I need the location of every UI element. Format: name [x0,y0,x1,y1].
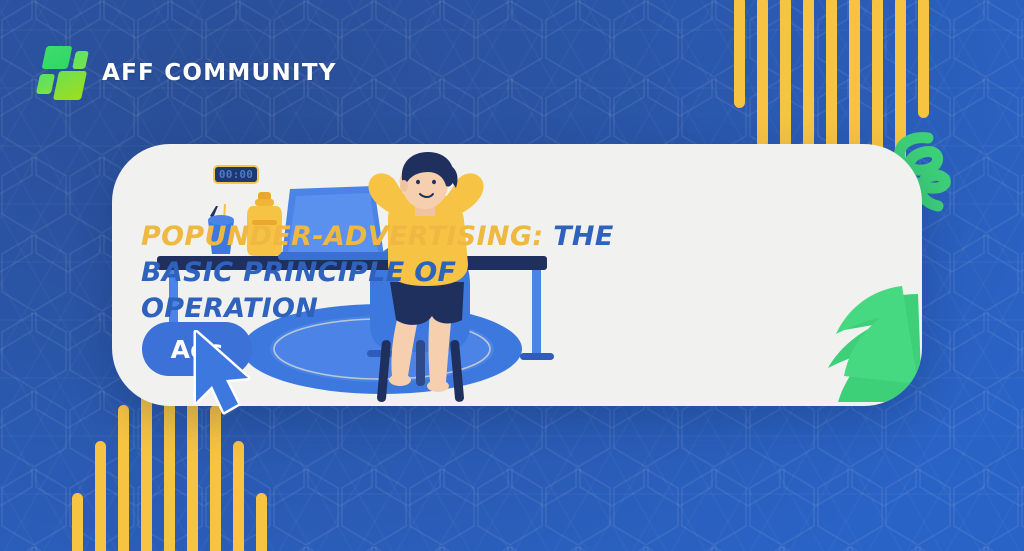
decorative-bar [734,0,745,108]
aff-community-logo-icon [36,46,88,100]
brand-logo[interactable]: AFF COMMUNITY [36,46,337,100]
headline-main-1: THE [553,221,613,252]
headline-main-2: BASIC PRINCIPLE OF OPERATION [141,257,456,324]
decorative-bar [918,0,929,118]
decorative-bar [233,441,244,551]
green-leaf-frond-icon [828,286,922,402]
headline-accent: POPUNDER-ADVERTISING: [141,221,543,252]
decorative-bar [118,405,129,551]
poster-canvas: AFF COMMUNITY [0,0,1024,551]
decorative-bar [72,493,83,551]
page-title: POPUNDER-ADVERTISING: THE BASIC PRINCIPL… [141,219,641,327]
decorative-bar [256,493,267,551]
clock-time: 00:00 [219,168,253,181]
digital-clock: 00:00 [213,165,259,184]
brand-name: AFF COMMUNITY [102,60,337,86]
decorative-bar [95,441,106,551]
decorative-bar [757,0,768,148]
decorative-bar [210,405,221,551]
mouse-cursor-arrow-icon[interactable] [190,330,254,416]
